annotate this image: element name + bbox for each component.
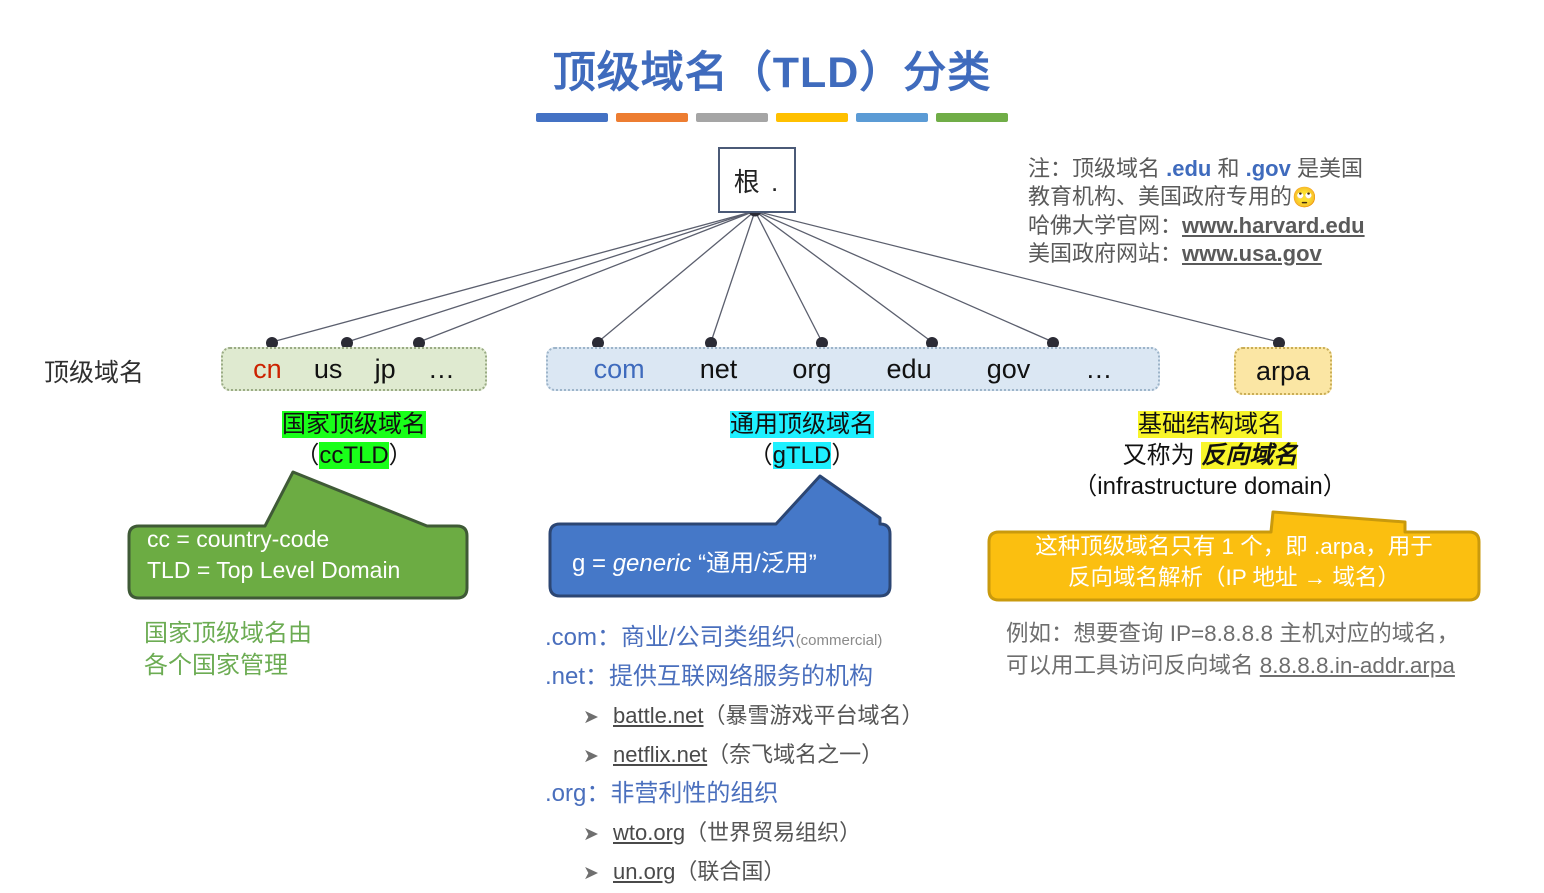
accent-bar-3	[696, 113, 768, 122]
un-org-desc: （联合国）	[675, 859, 785, 884]
gtld-callout: g = generic “通用/泛用”	[548, 470, 892, 598]
cctld-callout: cc = country-code TLD = Top Level Domain	[127, 466, 469, 601]
tld-item-arpa[interactable]: arpa	[1256, 356, 1310, 387]
title-accent-bars	[536, 112, 1008, 122]
cctld-caption: 国家顶级域名 （ccTLD）	[216, 409, 492, 471]
gtld-caption-line1: 通用顶级域名	[730, 411, 874, 438]
cctld-callout-line2: TLD = Top Level Domain	[147, 555, 400, 585]
tld-item-us[interactable]: us	[314, 354, 343, 385]
gtld-org-entry: .org：非营利性的组织	[545, 774, 924, 813]
in-addr-arpa-link[interactable]: 8.8.8.8.in-addr.arpa	[1260, 653, 1455, 678]
cctld-caption-line1: 国家顶级域名	[282, 411, 426, 438]
tld-item-jp[interactable]: jp	[375, 354, 396, 385]
un-org-link[interactable]: un.org	[613, 859, 675, 884]
infra-caption-alias: 反向域名	[1201, 442, 1297, 469]
gtld-callout-italic: generic	[613, 550, 692, 577]
note-line-4: 美国政府网站：www.usa.gov	[1028, 240, 1428, 268]
gtld-net-head: .net：提供互联网络服务的机构	[545, 663, 873, 690]
gtld-com-entry: .com：商业/公司类组织(commercial)	[545, 618, 924, 657]
infrastructure-example: 例如：想要查询 IP=8.8.8.8 主机对应的域名， 可以用工具访问反向域名 …	[1006, 618, 1459, 682]
gtld-description-list: .com：商业/公司类组织(commercial) .net：提供互联网络服务的…	[545, 618, 924, 891]
infra-example-line2: 可以用工具访问反向域名 8.8.8.8.in-addr.arpa	[1006, 650, 1459, 682]
harvard-label: 哈佛大学官网：	[1028, 213, 1182, 238]
tld-item-gov[interactable]: gov	[987, 354, 1031, 385]
gtld-com-head: .com：商业/公司类组织	[545, 624, 796, 651]
gtld-callout-prefix: g =	[572, 550, 613, 577]
infra-caption-line1: 基础结构域名	[1138, 411, 1282, 438]
infrastructure-callout-text: 这种顶级域名只有 1 个，即 .arpa，用于 反向域名解析（IP 地址 → 域…	[985, 508, 1483, 603]
infra-callout-line2: 反向域名解析（IP 地址 → 域名）	[1068, 563, 1400, 593]
page-title: 顶级域名（TLD）分类	[0, 38, 1544, 100]
gtld-caption-paren-open: （	[749, 442, 773, 469]
root-node-label: 根 .	[734, 162, 780, 199]
cctld-desc-line2: 各个国家管理	[144, 650, 312, 682]
list-item: ➤wto.org（世界贸易组织）	[583, 813, 924, 852]
gtld-caption-paren-close: ）	[831, 442, 855, 469]
note-edu-label: .edu	[1166, 156, 1211, 181]
note-line1-mid: 和	[1211, 156, 1245, 181]
wto-org-link[interactable]: wto.org	[613, 820, 685, 845]
gtld-callout-suffix: “通用/泛用”	[691, 550, 816, 577]
accent-bar-4	[776, 113, 848, 122]
accent-bar-5	[856, 113, 928, 122]
infrastructure-group-box: arpa	[1234, 347, 1332, 395]
gtld-com-english: (commercial)	[796, 632, 883, 649]
cctld-description: 国家顶级域名由 各个国家管理	[144, 618, 312, 683]
infra-caption-english: （infrastructure domain）	[1073, 473, 1346, 500]
note-line-1: 注：顶级域名 .edu 和 .gov 是美国	[1028, 155, 1428, 183]
list-item: ➤battle.net（暴雪游戏平台域名）	[583, 696, 924, 735]
root-node-box: 根 .	[718, 147, 796, 213]
arrow-bullet-icon: ➤	[583, 737, 613, 776]
cctld-group-box: cn us jp …	[221, 347, 487, 391]
accent-bar-2	[616, 113, 688, 122]
arrow-bullet-icon: ➤	[583, 698, 613, 737]
note-line-2: 教育机构、美国政府专用的🙄	[1028, 183, 1428, 212]
infra-callout-line1: 这种顶级域名只有 1 个，即 .arpa，用于	[1035, 532, 1433, 562]
infra-caption-alias-prefix: 又称为	[1123, 442, 1202, 469]
usgov-label: 美国政府网站：	[1028, 241, 1182, 266]
netflix-net-link[interactable]: netflix.net	[613, 742, 707, 767]
tld-row-label: 顶级域名	[44, 353, 144, 389]
infrastructure-caption: 基础结构域名 又称为 反向域名 （infrastructure domain）	[1000, 409, 1420, 503]
tld-item-g-ellipsis: …	[1085, 354, 1112, 385]
gtld-abbrev: gTLD	[773, 442, 832, 469]
cctld-callout-line1: cc = country-code	[147, 524, 329, 554]
wto-org-desc: （世界贸易组织）	[685, 820, 861, 845]
tld-item-org[interactable]: org	[792, 354, 831, 385]
note-block: 注：顶级域名 .edu 和 .gov 是美国 教育机构、美国政府专用的🙄 哈佛大…	[1028, 155, 1428, 268]
gtld-callout-text: g = generic “通用/泛用”	[548, 470, 892, 598]
arrow-bullet-icon: ➤	[583, 854, 613, 893]
tld-item-cc-ellipsis: …	[428, 354, 455, 385]
arrow-bullet-icon: ➤	[583, 815, 613, 854]
list-item: ➤un.org（联合国）	[583, 852, 924, 891]
accent-bar-6	[936, 113, 1008, 122]
note-line1-suffix: 是美国	[1291, 156, 1363, 181]
note-gov-label: .gov	[1246, 156, 1291, 181]
gtld-net-entry: .net：提供互联网络服务的机构	[545, 657, 924, 696]
infrastructure-callout: 这种顶级域名只有 1 个，即 .arpa，用于 反向域名解析（IP 地址 → 域…	[985, 508, 1483, 603]
tld-item-com[interactable]: com	[594, 354, 645, 385]
note-line-3: 哈佛大学官网：www.harvard.edu	[1028, 212, 1428, 240]
tld-item-net[interactable]: net	[700, 354, 738, 385]
gtld-caption: 通用顶级域名 （gTLD）	[664, 409, 940, 471]
note-line1-prefix: 注：顶级域名	[1028, 156, 1166, 181]
gtld-org-head: .org：非营利性的组织	[545, 780, 778, 807]
infra-example-line1: 例如：想要查询 IP=8.8.8.8 主机对应的域名，	[1006, 618, 1459, 650]
battle-net-desc: （暴雪游戏平台域名）	[704, 703, 924, 728]
eye-roll-emoji: 🙄	[1292, 187, 1317, 209]
cctld-desc-line1: 国家顶级域名由	[144, 618, 312, 650]
note-line2-text: 教育机构、美国政府专用的	[1028, 184, 1292, 209]
tld-item-cn[interactable]: cn	[253, 354, 282, 385]
usgov-link[interactable]: www.usa.gov	[1182, 241, 1322, 266]
infra-example-prefix: 可以用工具访问反向域名	[1006, 653, 1260, 678]
netflix-net-desc: （奈飞域名之一）	[707, 742, 883, 767]
accent-bar-1	[536, 113, 608, 122]
list-item: ➤netflix.net（奈飞域名之一）	[583, 735, 924, 774]
tld-item-edu[interactable]: edu	[887, 354, 932, 385]
battle-net-link[interactable]: battle.net	[613, 703, 704, 728]
cctld-callout-text: cc = country-code TLD = Top Level Domain	[127, 466, 469, 601]
gtld-group-box: com net org edu gov …	[546, 347, 1160, 391]
harvard-link[interactable]: www.harvard.edu	[1182, 213, 1365, 238]
